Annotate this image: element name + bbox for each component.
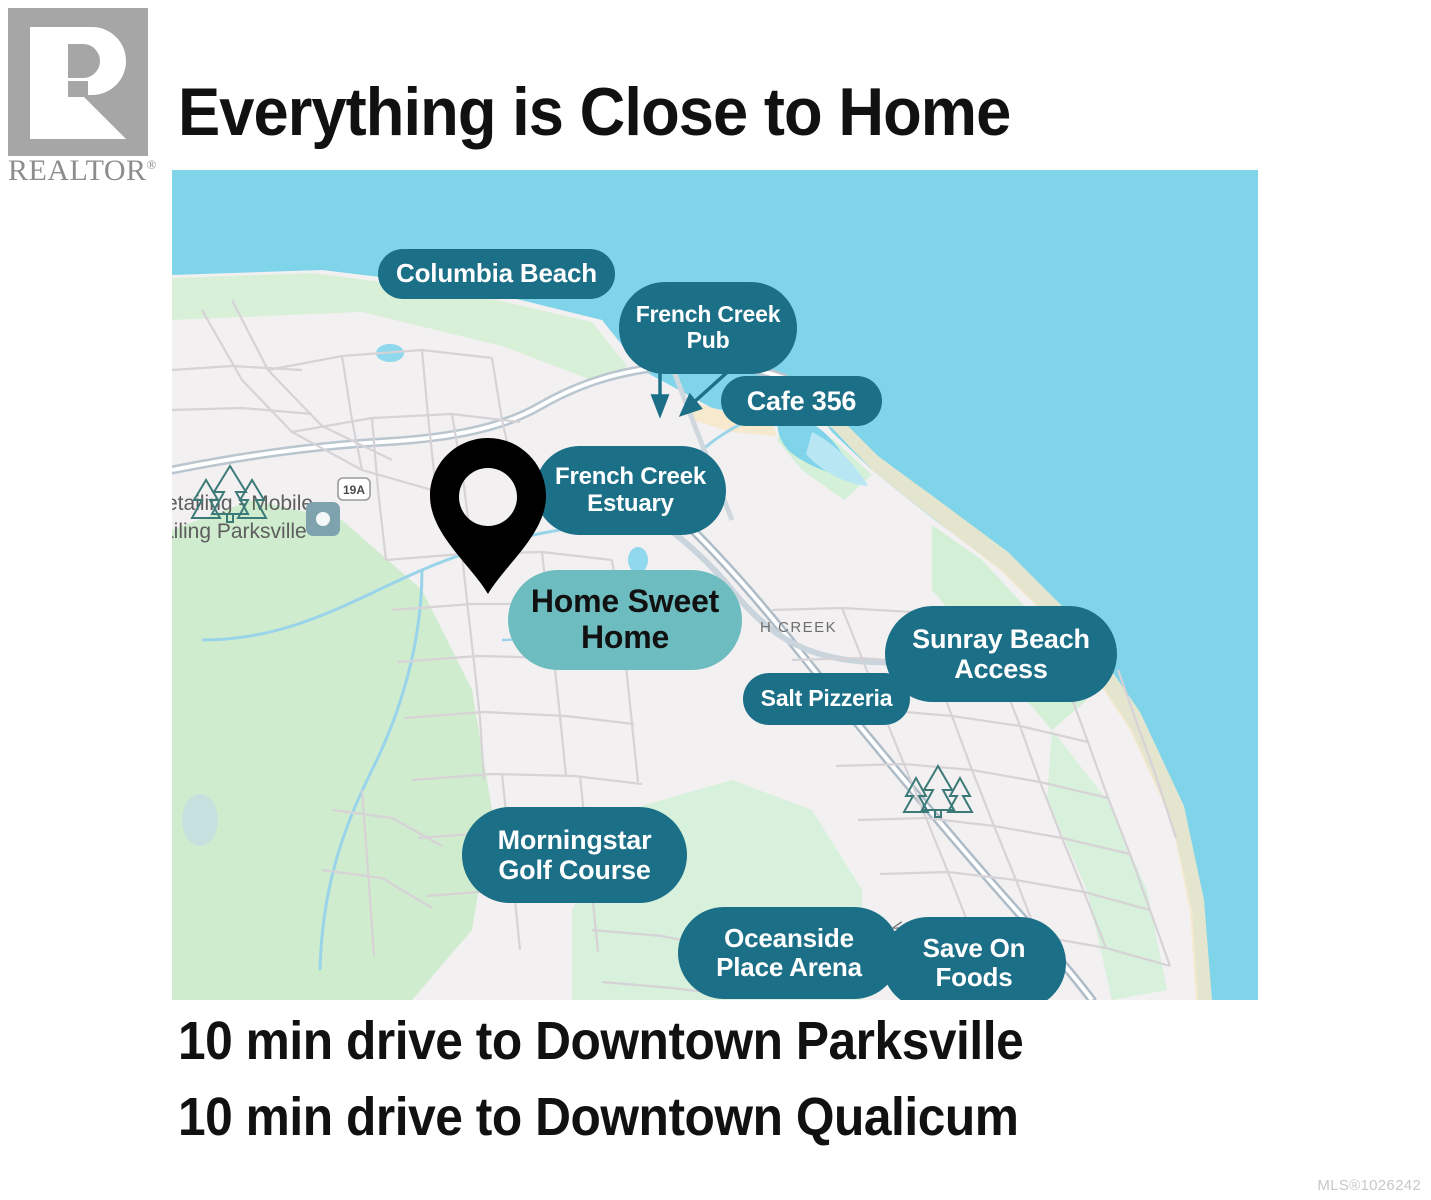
map-pill-salt-pizzeria[interactable]: Salt Pizzeria [743,673,910,725]
map-poi-marker [306,502,340,536]
mls-watermark: MLS®1026242 [1317,1177,1421,1194]
map-pill-columbia-beach[interactable]: Columbia Beach [378,249,615,299]
map-pill-save-on-foods[interactable]: Save On Foods [882,917,1066,1000]
realtor-r-notch [68,81,88,97]
registered-trademark-icon: ® [147,157,157,172]
realtor-r-stem [30,27,68,139]
map-pill-french-creek-pub[interactable]: French Creek Pub [619,282,797,374]
realtor-logo: REALTOR® [8,8,160,180]
drive-time-parksville: 10 min drive to Downtown Parksville [178,1014,1023,1068]
svg-text:19A: 19A [343,483,365,497]
highway-shield-19a: 19A [338,478,370,500]
realtor-r-mark [8,8,148,156]
drive-time-qualicum: 10 min drive to Downtown Qualicum [178,1090,1019,1144]
home-location-pin-icon[interactable] [430,438,546,594]
map-pill-oceanside-place-arena[interactable]: Oceanside Place Arena [678,907,900,999]
map-pill-cafe-356[interactable]: Cafe 356 [721,376,882,426]
map-label-ailing-parksville: ailing Parksville [172,520,307,543]
realtor-wordmark: REALTOR® [8,154,157,188]
map-pill-sunray-beach-access[interactable]: Sunray Beach Access [885,606,1117,702]
location-map[interactable]: Wembley Rd H CREEK etailing - Mobile ail… [172,170,1258,1000]
realtor-wordmark-text: REALTOR [8,154,147,187]
map-label-french-creek: H CREEK [760,619,837,636]
page-title: Everything is Close to Home [178,78,1010,146]
map-pill-french-creek-estuary[interactable]: French Creek Estuary [535,446,726,535]
map-pill-morningstar-golf-course[interactable]: Morningstar Golf Course [462,807,687,903]
